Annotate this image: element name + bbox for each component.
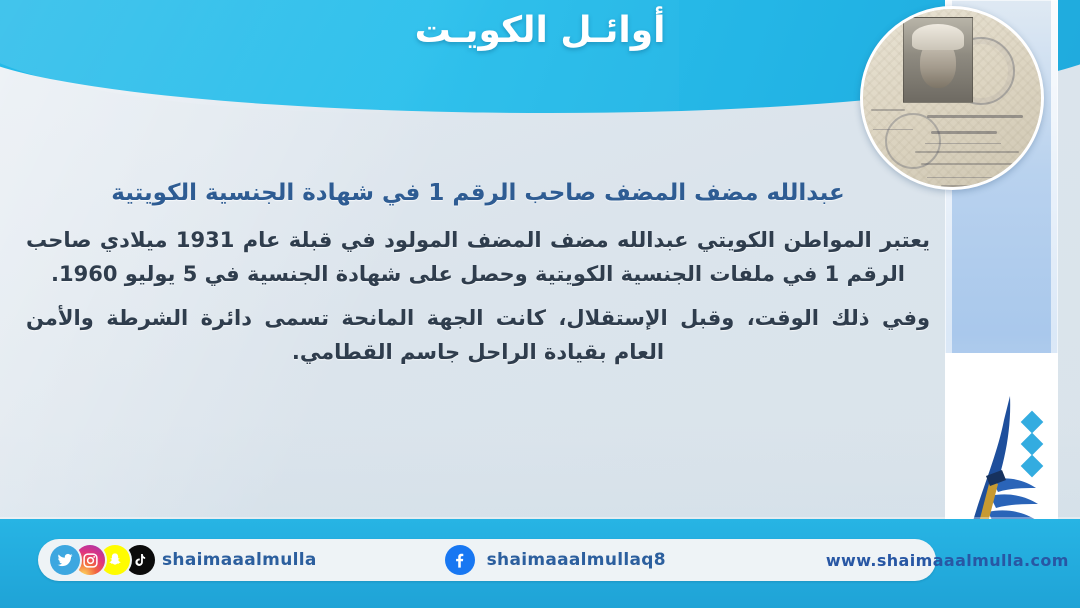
citizenship-certificate-photo bbox=[860, 6, 1044, 190]
article-headline: عبدالله مضف المضف صاحب الرقم 1 في شهادة … bbox=[26, 178, 930, 209]
certificate-text-line bbox=[931, 131, 997, 134]
social-handle-label[interactable]: shaimaaalmulla bbox=[162, 550, 317, 570]
secondary-stamp-icon bbox=[885, 113, 941, 169]
facebook-handle-label[interactable]: shaimaaalmullaq8 bbox=[487, 550, 666, 570]
certificate-text-line bbox=[927, 115, 1023, 118]
website-url-link[interactable]: www.shaimaaalmulla.com bbox=[826, 551, 1069, 570]
facebook-link-group: shaimaaalmullaq8 bbox=[445, 545, 666, 575]
portrait-photo bbox=[903, 17, 973, 103]
poster-canvas: أوائـل الكويـت bbox=[0, 0, 1080, 608]
twitter-icon[interactable] bbox=[50, 545, 80, 575]
certificate-rule bbox=[927, 177, 1011, 178]
portrait-headdress bbox=[912, 24, 964, 50]
footer-bar: shaimaaalmulla shaimaaalmullaq8 www.shai… bbox=[0, 519, 1080, 608]
certificate-text-line bbox=[941, 185, 1001, 187]
article-paragraph-1: يعتبر المواطن الكويتي عبدالله مضف المضف … bbox=[26, 223, 930, 291]
certificate-text-line bbox=[921, 163, 1013, 165]
article-content: عبدالله مضف المضف صاحب الرقم 1 في شهادة … bbox=[26, 178, 930, 379]
social-icon-group: shaimaaalmulla bbox=[38, 545, 317, 575]
footer-divider bbox=[0, 517, 1080, 519]
article-paragraph-2: وفي ذلك الوقت، وقبل الإستقلال، كانت الجه… bbox=[26, 301, 930, 369]
facebook-icon[interactable] bbox=[445, 545, 475, 575]
certificate-text-line bbox=[871, 109, 905, 111]
social-links-pill: shaimaaalmulla shaimaaalmullaq8 www.shai… bbox=[38, 539, 936, 581]
